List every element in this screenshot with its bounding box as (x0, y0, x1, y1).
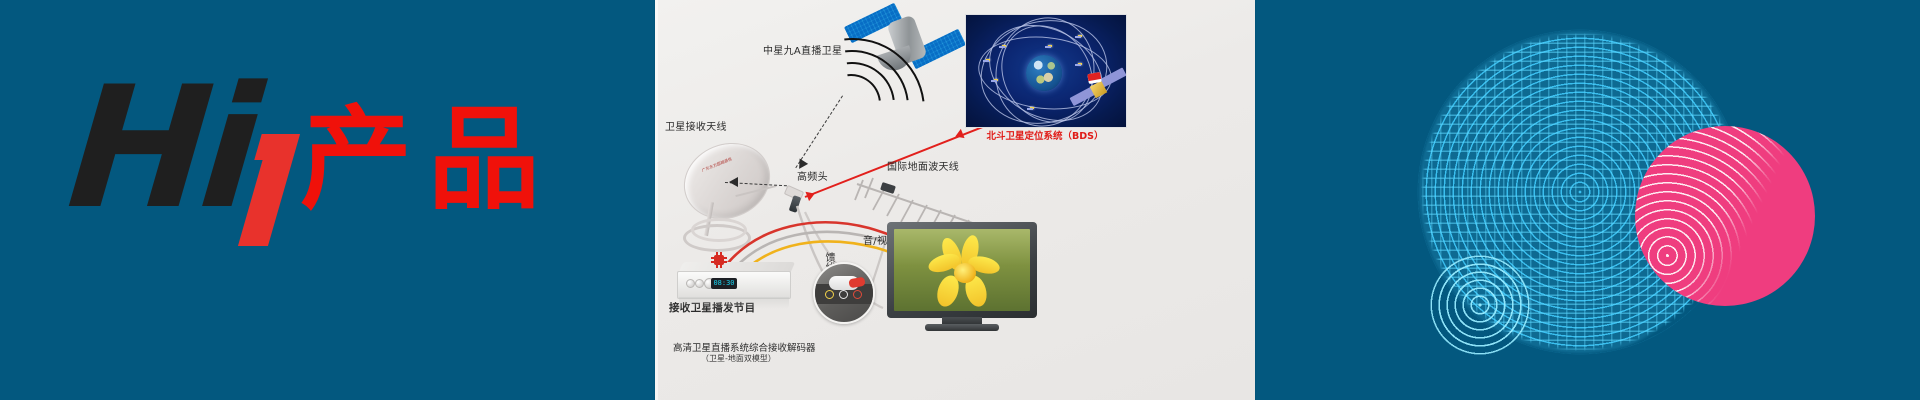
terrestrial-antenna-label: 国际地面波天线 (887, 158, 959, 173)
dish-base-ring-inner (691, 218, 747, 242)
chip-leg (711, 261, 714, 263)
tv-screen (894, 229, 1030, 311)
chip-core (714, 255, 724, 265)
av-jack-red (853, 290, 862, 299)
globe-swirl-detail (1405, 230, 1555, 380)
chip-leg (711, 257, 714, 259)
stb-reflection (679, 297, 789, 309)
lnb-body (789, 195, 802, 213)
bds-caption: 北斗卫星定位系统（BDS） (965, 128, 1125, 142)
brand-latin-text: Hi (46, 64, 280, 232)
set-top-box-receiver: 08:30 (677, 262, 797, 308)
brand-chinese-text: 产品 (300, 104, 556, 216)
chip-icon (711, 252, 727, 268)
flower-center (954, 263, 976, 283)
lnb-label: 高频头 (797, 168, 828, 183)
bds-satellite-wing (1027, 108, 1033, 110)
panel-left-edge (655, 0, 658, 400)
dish-antenna-label: 卫星接收天线 (665, 118, 727, 133)
satellite-dish-antenna: 广东东方超越通信 (677, 140, 787, 250)
television-set (887, 222, 1037, 334)
bds-satellite-wing (1075, 64, 1081, 66)
tv-stand-base (925, 324, 999, 331)
stb-display-value: 08:30 (711, 278, 737, 289)
bds-satellite-wing (1075, 36, 1081, 38)
dish-to-lnb-arrowhead (729, 177, 738, 187)
bds-satellite-wing (1045, 46, 1051, 48)
av-jack-white (839, 290, 848, 299)
bds-constellation-image (965, 14, 1127, 128)
bds-foreground-satellite (1070, 75, 1124, 101)
stb-button-2 (695, 279, 704, 288)
bds-satellite-wing (991, 80, 997, 82)
bds-link-arrow-mid (953, 129, 964, 141)
chip-leg (724, 261, 727, 263)
bds-satellite-wing (999, 46, 1005, 48)
decorative-globe-graphic (1255, 0, 1920, 400)
brand-logo: Hi 产品 (78, 78, 538, 268)
stb-button-1 (686, 279, 695, 288)
pink-circle-dots (1635, 126, 1815, 306)
brand-accent-dot (254, 134, 297, 160)
banner-root: Hi 产品 中星九A直播卫星 卫星接收天线 广东东方 (0, 0, 1920, 400)
bds-satellite-wing (983, 60, 989, 62)
chip-leg (720, 265, 722, 268)
av-ports-closeup (813, 262, 875, 324)
chip-leg (716, 252, 718, 255)
diagram-panel: 中星九A直播卫星 卫星接收天线 广东东方超越通信 高频头 (655, 0, 1255, 400)
stb-led-display: 08:30 (711, 278, 737, 289)
brand-latin-wrap: Hi (78, 78, 328, 248)
caption-line-1: 高清卫星直播系统综合接收解码器 (673, 340, 816, 354)
earth-globe (1026, 55, 1062, 91)
chip-leg (716, 265, 718, 268)
av-jack-yellow (825, 290, 834, 299)
caption-line-2: （卫星-地面双模型） (701, 353, 776, 364)
dish-reflector (672, 130, 781, 232)
lnb-downconverter (783, 186, 809, 216)
chip-leg (724, 257, 727, 259)
chip-leg (720, 252, 722, 255)
